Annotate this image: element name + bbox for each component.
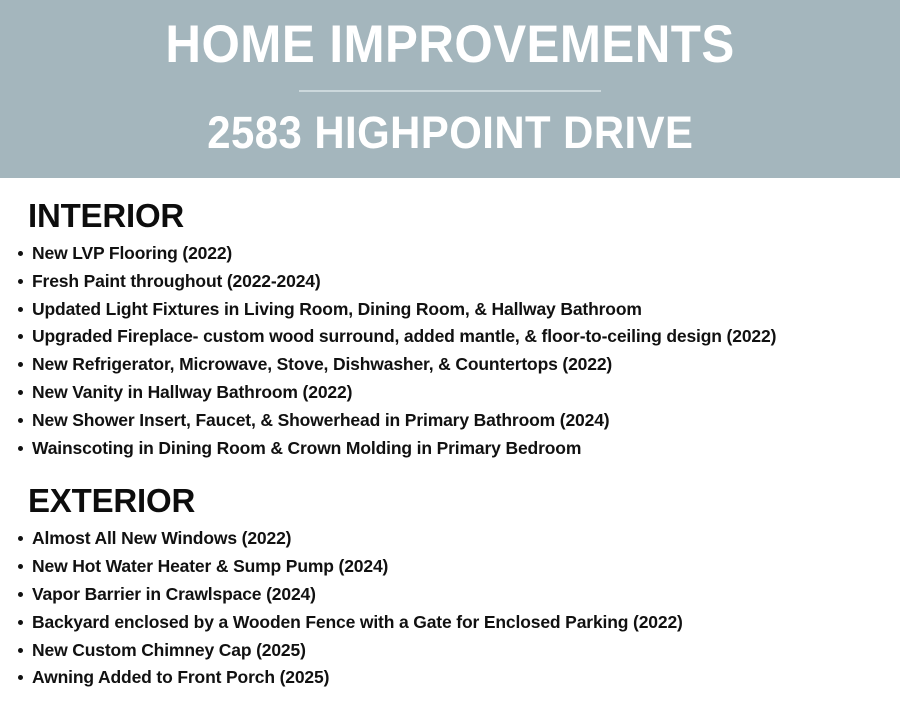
header-divider <box>299 90 601 92</box>
list-item-label: Vapor Barrier in Crawlspace (2024) <box>32 584 316 604</box>
list-item: Wainscoting in Dining Room & Crown Moldi… <box>0 435 900 463</box>
bullet-icon <box>18 536 23 541</box>
bullet-icon <box>18 620 23 625</box>
list-item: New Vanity in Hallway Bathroom (2022) <box>0 379 900 407</box>
list-item: Updated Light Fixtures in Living Room, D… <box>0 296 900 324</box>
list-item-label: Awning Added to Front Porch (2025) <box>32 667 329 687</box>
content-area: INTERIOR New LVP Flooring (2022) Fresh P… <box>0 178 900 719</box>
page-title: HOME IMPROVEMENTS <box>165 13 734 77</box>
bullet-icon <box>18 362 23 367</box>
section-interior: INTERIOR New LVP Flooring (2022) Fresh P… <box>0 178 900 462</box>
list-item: New Shower Insert, Faucet, & Showerhead … <box>0 407 900 435</box>
list-item: Almost All New Windows (2022) <box>0 525 900 553</box>
interior-item-list: New LVP Flooring (2022) Fresh Paint thro… <box>0 235 900 462</box>
list-item-label: Upgraded Fireplace- custom wood surround… <box>32 326 776 346</box>
list-item: Vapor Barrier in Crawlspace (2024) <box>0 581 900 609</box>
list-item-label: New Refrigerator, Microwave, Stove, Dish… <box>32 354 612 374</box>
list-item: New Refrigerator, Microwave, Stove, Dish… <box>0 351 900 379</box>
bullet-icon <box>18 307 23 312</box>
list-item: New LVP Flooring (2022) <box>0 240 900 268</box>
bullet-icon <box>18 592 23 597</box>
bullet-icon <box>18 648 23 653</box>
list-item: New Hot Water Heater & Sump Pump (2024) <box>0 553 900 581</box>
section-heading-exterior: EXTERIOR <box>0 462 900 520</box>
list-item-label: New Custom Chimney Cap (2025) <box>32 640 306 660</box>
list-item-label: New LVP Flooring (2022) <box>32 243 232 263</box>
bullet-icon <box>18 251 23 256</box>
bullet-icon <box>18 564 23 569</box>
bullet-icon <box>18 279 23 284</box>
bullet-icon <box>18 334 23 339</box>
list-item-label: Fresh Paint throughout (2022-2024) <box>32 271 321 291</box>
list-item-label: New Shower Insert, Faucet, & Showerhead … <box>32 410 609 430</box>
bullet-icon <box>18 418 23 423</box>
bullet-icon <box>18 675 23 680</box>
list-item-label: New Hot Water Heater & Sump Pump (2024) <box>32 556 388 576</box>
list-item-label: Backyard enclosed by a Wooden Fence with… <box>32 612 683 632</box>
list-item-label: Almost All New Windows (2022) <box>32 528 291 548</box>
exterior-item-list: Almost All New Windows (2022) New Hot Wa… <box>0 520 900 692</box>
bullet-icon <box>18 446 23 451</box>
section-heading-interior: INTERIOR <box>0 178 900 235</box>
list-item: Awning Added to Front Porch (2025) <box>0 664 900 692</box>
list-item: Upgraded Fireplace- custom wood surround… <box>0 323 900 351</box>
header-band: HOME IMPROVEMENTS 2583 HIGHPOINT DRIVE <box>0 0 900 178</box>
list-item-label: Wainscoting in Dining Room & Crown Moldi… <box>32 438 581 458</box>
list-item: Fresh Paint throughout (2022-2024) <box>0 268 900 296</box>
page-subtitle-address: 2583 HIGHPOINT DRIVE <box>207 106 693 160</box>
flyer-page: HOME IMPROVEMENTS 2583 HIGHPOINT DRIVE I… <box>0 0 900 719</box>
bullet-icon <box>18 390 23 395</box>
list-item: Backyard enclosed by a Wooden Fence with… <box>0 609 900 637</box>
section-exterior: EXTERIOR Almost All New Windows (2022) N… <box>0 462 900 692</box>
list-item-label: New Vanity in Hallway Bathroom (2022) <box>32 382 352 402</box>
list-item-label: Updated Light Fixtures in Living Room, D… <box>32 299 642 319</box>
list-item: New Custom Chimney Cap (2025) <box>0 637 900 665</box>
